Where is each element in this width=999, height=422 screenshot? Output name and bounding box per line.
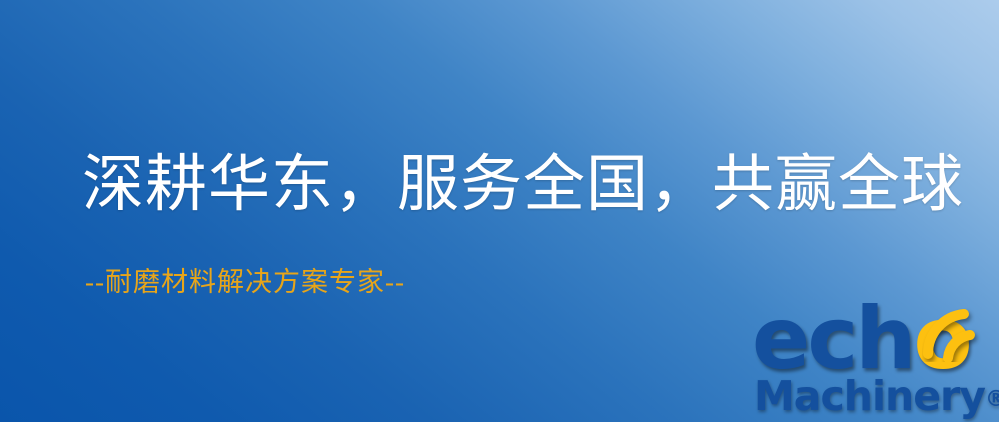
promotional-banner: 深耕华东，服务全国，共赢全球 --耐磨材料解决方案专家-- echo Machi… — [0, 0, 999, 422]
logo-wordmark: echo — [752, 296, 970, 382]
echo-machinery-logo: echo Machinery® — [752, 296, 999, 422]
banner-headline: 深耕华东，服务全国，共赢全球 — [82, 148, 964, 222]
banner-subtitle: --耐磨材料解决方案专家-- — [85, 265, 405, 299]
registered-trademark-icon: ® — [985, 387, 999, 412]
logo-tagline-text: Machinery — [754, 372, 985, 420]
logo-tagline: Machinery® — [754, 374, 999, 422]
